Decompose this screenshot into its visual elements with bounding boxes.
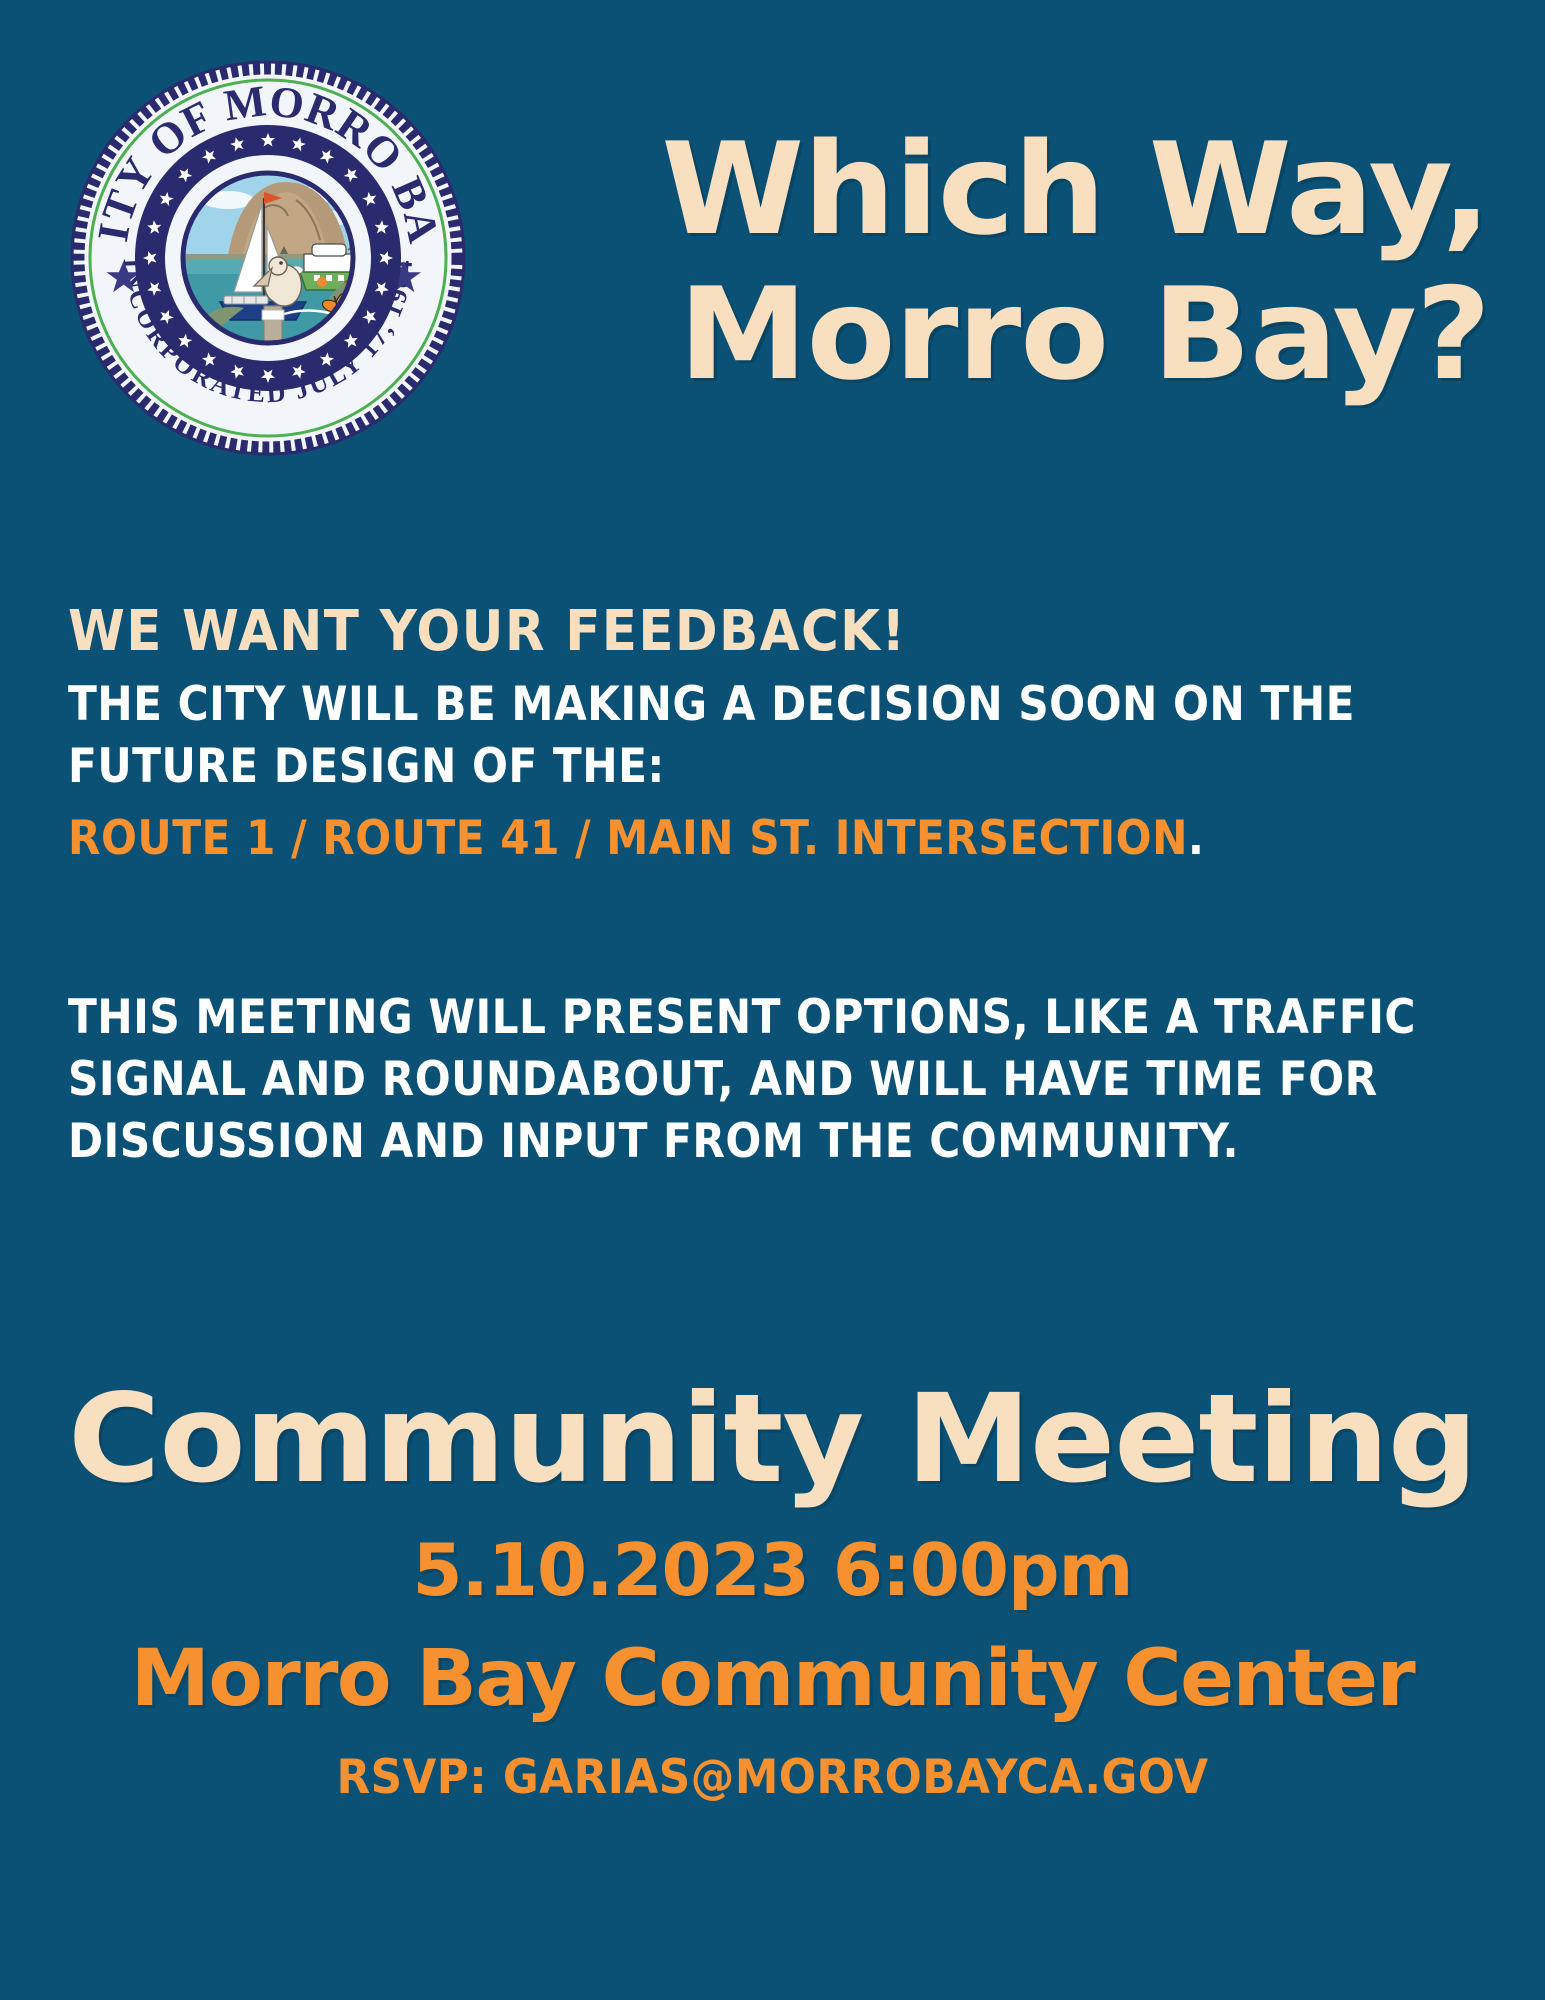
flyer-header: CITY OF MORRO BAY INCORPORATED JULY 17, … — [0, 48, 1545, 468]
title-line-1: Which Way, — [541, 128, 1490, 251]
flyer-body: WE WANT YOUR FEEDBACK! THE CITY WILL BE … — [68, 604, 1478, 1173]
event-datetime: 5.10.2023 6:00pm — [0, 1534, 1545, 1606]
flyer-title: Which Way, Morro Bay? — [560, 128, 1490, 396]
title-line-2: Morro Bay? — [541, 273, 1490, 396]
event-heading: Community Meeting — [0, 1378, 1545, 1500]
paragraph-meeting-line-2: SIGNAL AND ROUNDABOUT, AND WILL HAVE TIM… — [68, 1049, 1477, 1111]
paragraph-meeting: THIS MEETING WILL PRESENT OPTIONS, LIKE … — [68, 987, 1477, 1173]
city-seal-icon: CITY OF MORRO BAY INCORPORATED JULY 17, … — [68, 58, 468, 458]
event-details: Community Meeting 5.10.2023 6:00pm Morro… — [0, 1378, 1545, 1801]
feedback-heading: WE WANT YOUR FEEDBACK! — [68, 604, 1365, 660]
event-rsvp[interactable]: RSVP: GARIAS@MORROBAYCA.GOV — [54, 1754, 1491, 1801]
route-intersection-period: . — [1188, 811, 1205, 866]
paragraph-meeting-line-3: DISCUSSION AND INPUT FROM THE COMMUNITY. — [68, 1111, 1477, 1173]
route-intersection-line: ROUTE 1 / ROUTE 41 / MAIN ST. INTERSECTI… — [68, 810, 1337, 869]
paragraph-decision-line-1: THE CITY WILL BE MAKING A DECISION SOON … — [68, 674, 1477, 736]
route-intersection-text: ROUTE 1 / ROUTE 41 / MAIN ST. INTERSECTI… — [68, 811, 1188, 866]
city-seal: CITY OF MORRO BAY INCORPORATED JULY 17, … — [68, 58, 468, 458]
paragraph-meeting-line-1: THIS MEETING WILL PRESENT OPTIONS, LIKE … — [68, 987, 1477, 1049]
paragraph-decision-line-2: FUTURE DESIGN OF THE: — [68, 736, 1477, 798]
flyer-canvas: CITY OF MORRO BAY INCORPORATED JULY 17, … — [0, 0, 1545, 2000]
event-venue: Morro Bay Community Center — [0, 1640, 1545, 1718]
paragraph-decision: THE CITY WILL BE MAKING A DECISION SOON … — [68, 674, 1477, 798]
